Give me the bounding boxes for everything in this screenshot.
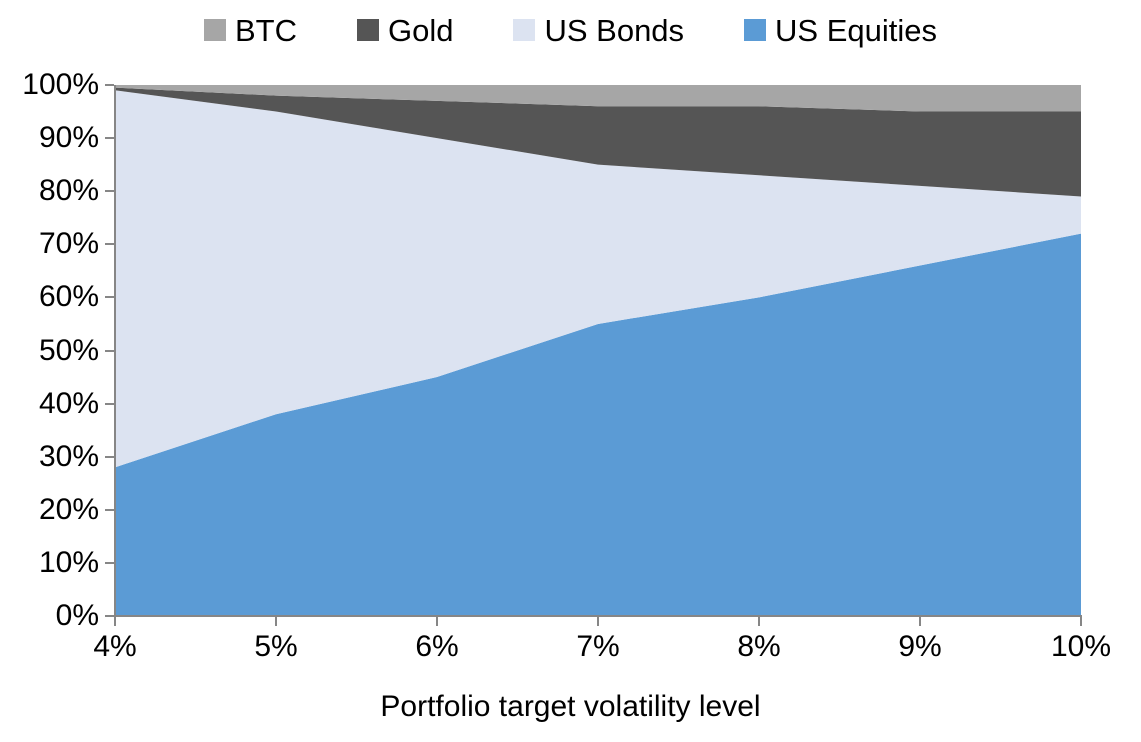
plot-area bbox=[115, 85, 1081, 616]
stacked-area-chart: BTC Gold US Bonds US Equities 0%10%20%30… bbox=[0, 0, 1141, 742]
area-series-group bbox=[115, 85, 1081, 616]
x-axis-tick-label: 6% bbox=[377, 632, 497, 662]
y-axis-tick-label: 80% bbox=[0, 176, 99, 206]
x-axis-tick-mark bbox=[275, 617, 277, 626]
legend-item-gold[interactable]: Gold bbox=[357, 15, 453, 46]
y-axis-tick-label: 30% bbox=[0, 442, 99, 472]
y-axis-line bbox=[114, 85, 116, 617]
y-axis-tick-label: 90% bbox=[0, 123, 99, 153]
x-axis-title: Portfolio target volatility level bbox=[0, 690, 1141, 724]
legend-item-label: Gold bbox=[388, 15, 453, 46]
y-axis-tick-mark bbox=[105, 403, 114, 405]
y-axis-tick-label: 20% bbox=[0, 495, 99, 525]
x-axis-tick-label: 5% bbox=[216, 632, 336, 662]
y-axis-tick-label: 50% bbox=[0, 336, 99, 366]
chart-legend: BTC Gold US Bonds US Equities bbox=[0, 8, 1141, 52]
y-axis-tick-mark bbox=[105, 243, 114, 245]
y-axis-tick-mark bbox=[105, 615, 114, 617]
legend-item-label: BTC bbox=[235, 15, 297, 46]
y-axis-tick-label: 60% bbox=[0, 282, 99, 312]
y-axis-tick-mark bbox=[105, 137, 114, 139]
y-axis-tick-mark bbox=[105, 562, 114, 564]
x-axis-tick-mark bbox=[919, 617, 921, 626]
y-axis-tick-mark bbox=[105, 509, 114, 511]
x-axis-tick-label: 8% bbox=[699, 632, 819, 662]
square-swatch-icon bbox=[513, 19, 535, 41]
y-axis-tick-mark bbox=[105, 296, 114, 298]
x-axis-tick-label: 7% bbox=[538, 632, 658, 662]
x-axis-tick-mark bbox=[758, 617, 760, 626]
y-axis-tick-mark bbox=[105, 84, 114, 86]
y-axis-tick-label: 40% bbox=[0, 389, 99, 419]
y-axis-tick-label: 70% bbox=[0, 229, 99, 259]
x-axis-tick-mark bbox=[114, 617, 116, 626]
y-axis-tick-mark bbox=[105, 350, 114, 352]
y-axis-tick-mark bbox=[105, 456, 114, 458]
x-axis-tick-mark bbox=[1080, 617, 1082, 626]
y-axis-tick-mark bbox=[105, 190, 114, 192]
legend-item-us-equities[interactable]: US Equities bbox=[744, 15, 937, 46]
y-axis-tick-label: 10% bbox=[0, 548, 99, 578]
y-axis-tick-label: 0% bbox=[0, 601, 99, 631]
square-swatch-icon bbox=[744, 19, 766, 41]
x-axis-tick-mark bbox=[436, 617, 438, 626]
square-swatch-icon bbox=[357, 19, 379, 41]
legend-item-label: US Equities bbox=[775, 15, 937, 46]
square-swatch-icon bbox=[204, 19, 226, 41]
y-axis-tick-label: 100% bbox=[0, 70, 99, 100]
x-axis-tick-label: 4% bbox=[55, 632, 175, 662]
x-axis-tick-mark bbox=[597, 617, 599, 626]
legend-item-btc[interactable]: BTC bbox=[204, 15, 297, 46]
legend-item-label: US Bonds bbox=[544, 15, 684, 46]
x-axis-tick-label: 10% bbox=[1021, 632, 1141, 662]
legend-item-us-bonds[interactable]: US Bonds bbox=[513, 15, 684, 46]
x-axis-tick-label: 9% bbox=[860, 632, 980, 662]
